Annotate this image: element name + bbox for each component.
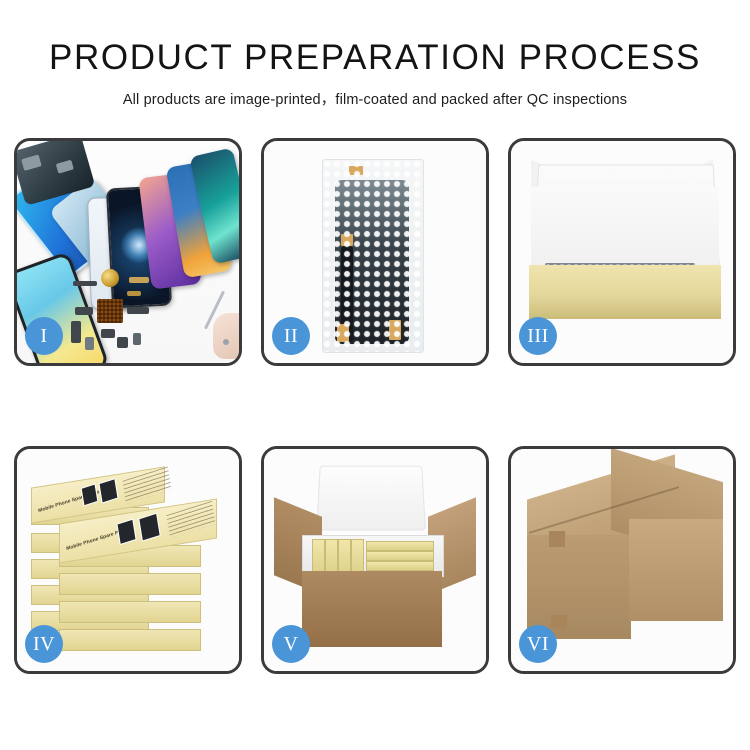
part-sim-tray-icon bbox=[127, 291, 141, 296]
box-label-phone-a-back bbox=[81, 483, 99, 506]
process-step-5: V bbox=[261, 446, 489, 674]
chip-array-icon bbox=[97, 299, 123, 323]
yellow-box-v3 bbox=[338, 539, 351, 575]
part-flex-c-icon bbox=[127, 307, 149, 314]
product-preparation-infographic: PRODUCT PREPARATION PROCESS All products… bbox=[0, 0, 750, 750]
yellow-box-h2 bbox=[366, 551, 434, 561]
process-step-grid: I II bbox=[14, 138, 736, 674]
yellow-box-h1 bbox=[366, 541, 434, 551]
yellow-box-h3 bbox=[366, 561, 434, 571]
part-button-icon bbox=[85, 337, 94, 350]
part-speaker-icon bbox=[117, 337, 128, 348]
carton-body-icon bbox=[302, 571, 442, 647]
carton-tape-upper-icon bbox=[549, 531, 565, 547]
process-step-3: III bbox=[508, 138, 736, 366]
hand-icon bbox=[213, 313, 239, 359]
process-step-1: I bbox=[14, 138, 242, 366]
page-title: PRODUCT PREPARATION PROCESS bbox=[0, 40, 750, 75]
box-label-phone-b-back bbox=[98, 478, 118, 504]
yellow-box-v1 bbox=[312, 539, 325, 575]
screw-icon bbox=[223, 339, 229, 345]
step-badge-3: III bbox=[519, 317, 557, 355]
process-step-2: II bbox=[261, 138, 489, 366]
bubble-bag-icon bbox=[322, 159, 424, 353]
page-subtitle: All products are image-printed，film-coat… bbox=[0, 88, 750, 109]
process-step-4: Mobile Phone Spare Parts Mobile Phone Sp… bbox=[14, 446, 242, 674]
part-battery-icon bbox=[133, 333, 141, 345]
carton-side-panel-icon bbox=[629, 519, 723, 621]
part-strip-icon bbox=[73, 281, 97, 286]
process-step-6: VI bbox=[508, 446, 736, 674]
step-badge-4: IV bbox=[25, 625, 63, 663]
part-camera-icon bbox=[101, 329, 115, 338]
speaker-coil-icon bbox=[101, 269, 119, 287]
step-badge-2: II bbox=[272, 317, 310, 355]
bubble-texture-icon bbox=[323, 160, 423, 352]
box-tray-front-icon bbox=[529, 293, 721, 319]
stacked-box-f4 bbox=[59, 573, 201, 595]
box-label-phone-b-front bbox=[138, 513, 161, 542]
step-badge-6: VI bbox=[519, 625, 557, 663]
part-flex-b-icon bbox=[71, 321, 81, 343]
stacked-box-f2 bbox=[59, 629, 201, 651]
part-flex-a-icon bbox=[75, 307, 93, 315]
box-label-spec-lines-back bbox=[122, 466, 171, 504]
step-badge-5: V bbox=[272, 625, 310, 663]
yellow-box-v2 bbox=[325, 539, 338, 575]
part-connector-icon bbox=[129, 277, 149, 283]
carton-tape-lower-icon bbox=[551, 615, 567, 629]
carton-front-panel-icon bbox=[527, 535, 631, 639]
yellow-box-v4 bbox=[351, 539, 364, 575]
box-label-spec-lines-front bbox=[166, 501, 215, 539]
stacked-box-f3 bbox=[59, 601, 201, 623]
box-inner-wall-icon bbox=[531, 187, 719, 269]
box-label-phone-a-front bbox=[116, 519, 136, 546]
header: PRODUCT PREPARATION PROCESS All products… bbox=[0, 0, 750, 109]
step-badge-1: I bbox=[25, 317, 63, 355]
foam-lid-icon bbox=[316, 466, 426, 531]
